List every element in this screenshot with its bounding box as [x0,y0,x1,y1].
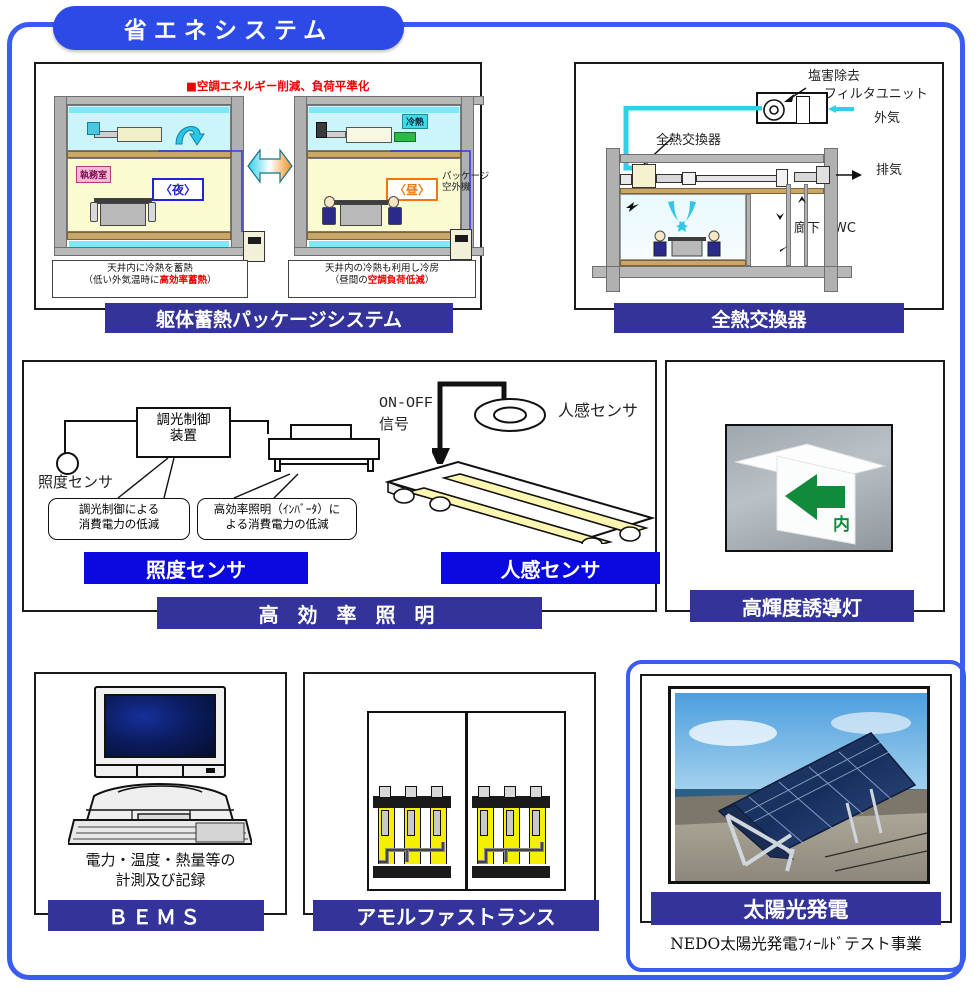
transformer-unit-right [472,784,550,878]
callout-inverter-saving: 高効率照明（ｲﾝﾊﾞｰﾀ）に よる消費電力の低減 [197,498,357,540]
exhaust-arrow-icon [832,168,868,182]
panel-solar [640,674,952,923]
night-piping [158,148,250,236]
bar-total-heat-exchanger: 全熱交換器 [614,303,904,333]
solar-photo-frame [668,686,930,884]
bar-illuminance-sensor: 照度センサ [84,552,308,584]
night-building-illustration: 執務室 〈夜〉 [54,96,244,256]
bar-bems: ＢＥＭＳ [48,900,264,931]
svg-text:内: 内 [833,514,850,535]
panel-total-heat-exchanger: 塩害除去 フィルタユニット 外気 全熱交換器 排気 廊下 WC [574,62,944,310]
night-room-tag: 執務室 [76,166,111,183]
bems-caption: 電力・温度・熱量等の 計測及び記録 [36,850,285,891]
occupancy-sensor-icon [472,396,548,434]
exchanger-unit [632,164,656,188]
transformer-unit-left [373,784,451,878]
night-caption: 天井内に冷熱を蓄熱 （低い外気温時に高効率蓄熱） [52,260,248,298]
bar-solar: 太陽光発電 [651,892,941,925]
exchange-arrow-icon [246,142,294,192]
page-title: 省エネシステム [53,6,404,50]
panel-bems: 電力・温度・熱量等の 計測及び記録 [34,672,287,915]
page-title-label: 省エネシステム [124,11,333,45]
bar-high-efficiency-lighting: 高 効 率 照 明 [157,597,542,629]
callout-leaders [44,454,374,502]
bar-exit-light: 高輝度誘導灯 [690,590,914,622]
on-off-signal-label: ON-OFF 信号 [379,394,433,437]
fluorescent-fixture-illustration [384,456,656,544]
panel-thermal-storage: ■空調エネルギー削減、負荷平準化 執務室 〈夜〉 [34,62,482,310]
day-outdoor-unit [450,229,472,260]
exit-light-photo: 内 [725,424,893,552]
solar-panel-photo [675,693,927,881]
solar-footnote: NEDO太陽光発電ﾌｨｰﾙﾄﾞテスト事業 [626,932,966,954]
zone-flow-arrows [620,194,820,254]
computer-illustration [72,686,248,844]
callout-dimming-saving: 調光制御による 消費電力の低減 [48,498,190,540]
dimming-control-box: 調光制御 装置 [136,407,231,458]
bar-amorphous-transformer: アモルファストランス [313,900,599,931]
night-outdoor-unit [243,231,265,262]
bar-motion-sensor: 人感センサ [441,552,660,584]
package-outdoor-unit-label: パッケージ 空外機 [442,172,489,194]
airflow-arrow-icon [172,118,206,148]
day-cool-tag: 冷熱 [402,114,428,129]
bar-thermal-storage: 躯体蓄熱パッケージシステム [105,303,453,333]
panel-high-efficiency-lighting: 調光制御 装置 照度センサ 調光制御による 消費電力の低減 高効率照明（ｲﾝﾊﾞ… [22,360,657,612]
energy-saving-system-diagram: 省エネシステム ■空調エネルギー削減、負荷平準化 [0,0,979,993]
day-caption: 天井内の冷熱も利用し冷房 （昼間の空調負荷低減） [288,260,476,298]
occupancy-sensor-label: 人感センサ [558,402,638,420]
panel-exit-light: 内 [665,360,945,612]
panel-amorphous-transformer [303,672,596,915]
thermal-storage-headline: ■空調エネルギー削減、負荷平準化 [186,78,369,94]
